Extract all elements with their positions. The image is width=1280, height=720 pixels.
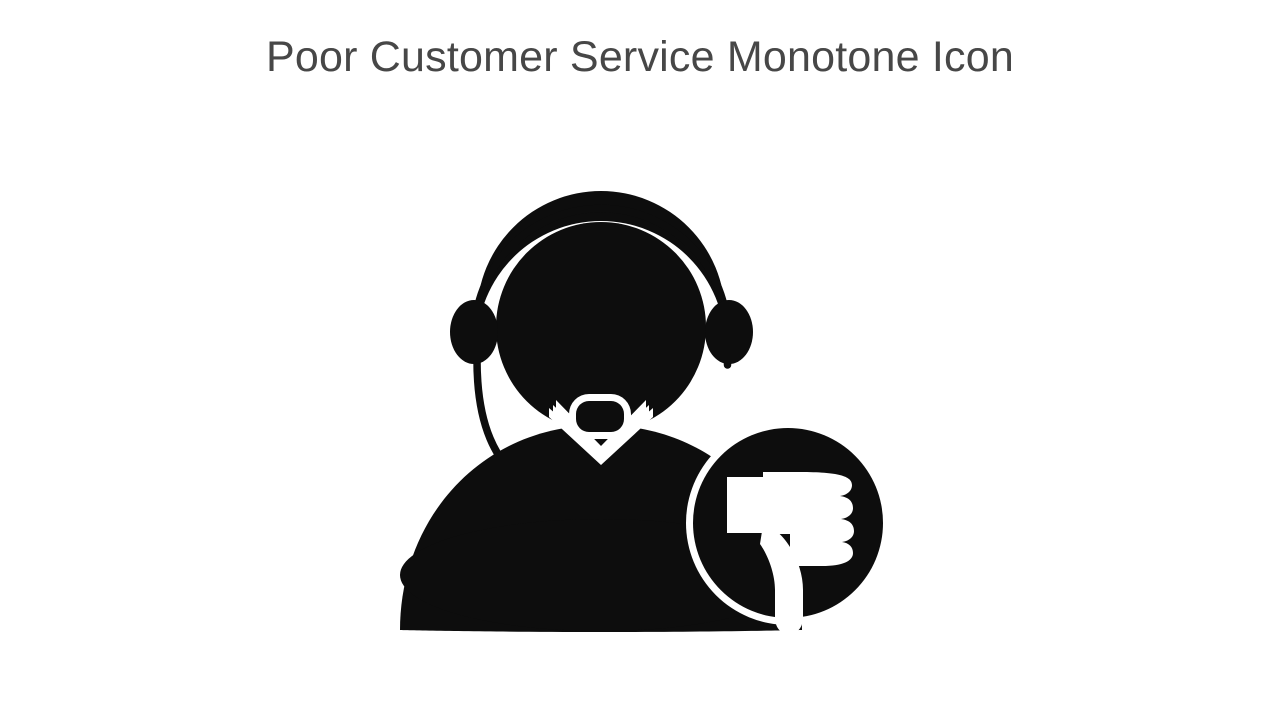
headset-ear-cup-left — [450, 300, 498, 364]
page-title: Poor Customer Service Monotone Icon — [0, 28, 1280, 86]
headset-ear-cup-right — [705, 300, 753, 364]
poor-customer-service-monotone-icon — [0, 120, 1280, 680]
slide-canvas: Poor Customer Service Monotone Icon — [0, 0, 1280, 720]
headset-microphone-capsule — [569, 394, 631, 439]
icon-stage — [0, 120, 1280, 680]
